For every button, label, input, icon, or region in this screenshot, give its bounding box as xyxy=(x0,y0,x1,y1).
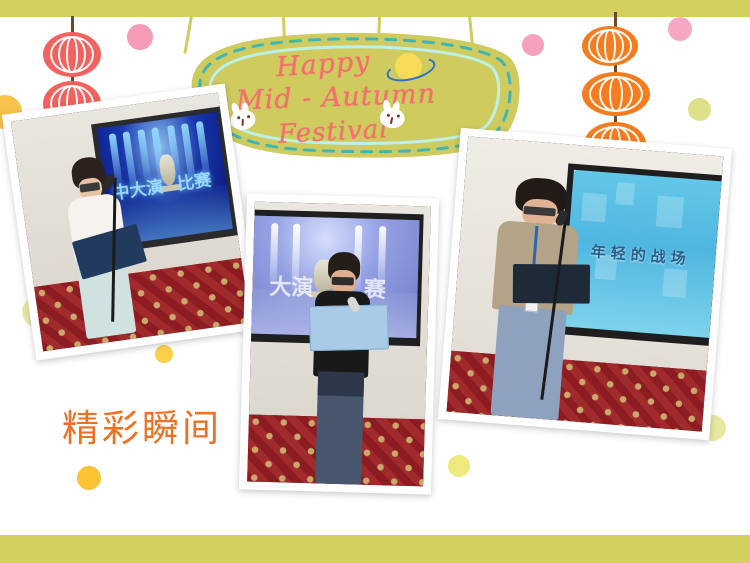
photo-person-badge[interactable]: 年轻的战场 xyxy=(438,128,732,440)
lantern-left-1 xyxy=(43,32,101,77)
dot-yellow-bottomleft xyxy=(77,466,101,490)
photo-woman-speaking[interactable]: 中大演 比赛 xyxy=(2,84,259,361)
speaker-figure xyxy=(303,251,380,485)
lantern-ribs xyxy=(43,32,101,77)
collage-canvas: Happy Mid - Autumn Festival xyxy=(0,0,750,563)
speaker-folder xyxy=(513,264,590,303)
lantern-right-2 xyxy=(582,72,650,116)
photo-man-reading-image: 大演 赛 xyxy=(247,202,431,487)
lantern-ribs xyxy=(582,26,638,66)
dot-pink-topleft xyxy=(127,24,153,50)
photo-man-reading[interactable]: 大演 赛 xyxy=(239,193,439,494)
dot-pink-topright xyxy=(668,17,692,41)
dot-yellow-midleft xyxy=(155,345,173,363)
photo-woman-speaking-image: 中大演 比赛 xyxy=(11,93,250,352)
dot-pale-right xyxy=(688,98,711,121)
page-title: 精彩瞬间 xyxy=(62,398,222,452)
lantern-right-1 xyxy=(582,26,638,66)
speaker-folder xyxy=(309,304,389,351)
lantern-ribs xyxy=(582,72,650,116)
dot-pale-mid xyxy=(448,455,470,477)
photo-person-badge-image: 年轻的战场 xyxy=(447,136,724,431)
bottom-olive-bar xyxy=(0,535,750,563)
